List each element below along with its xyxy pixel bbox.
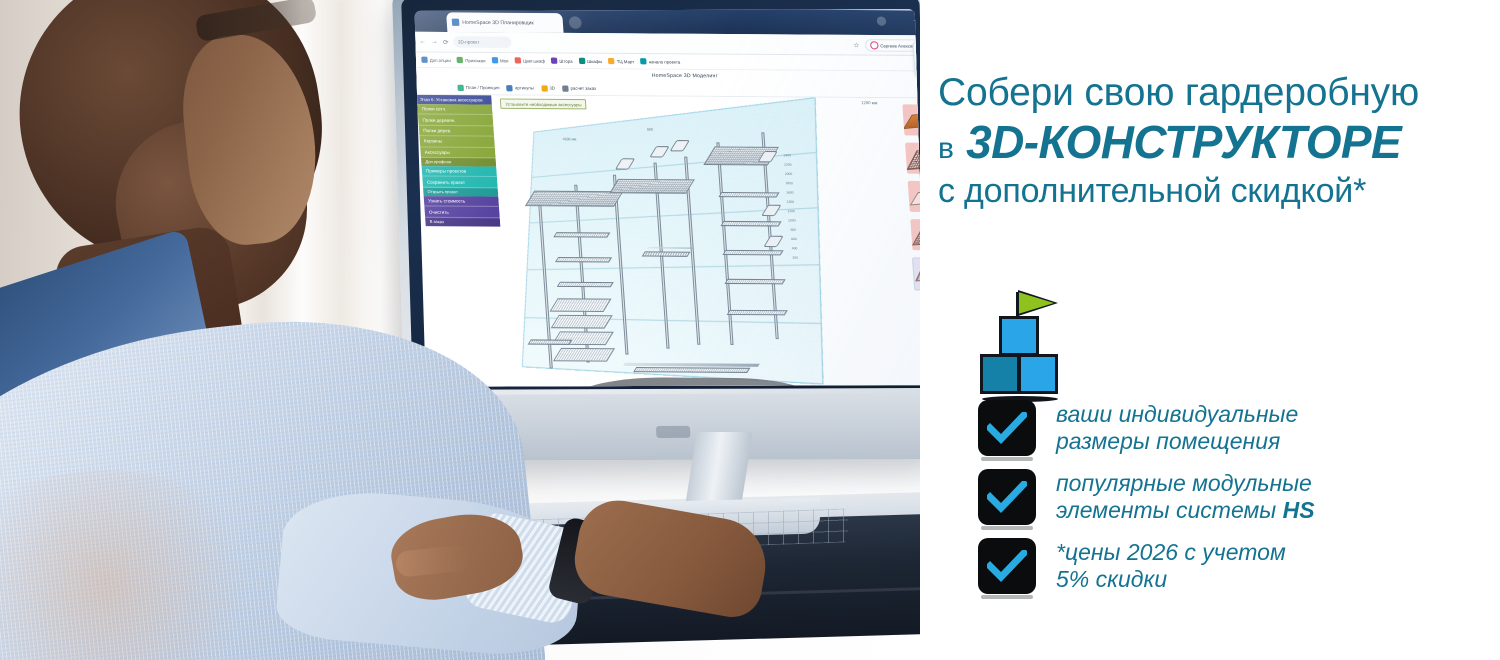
app-menu-item-order[interactable]: расчет заказ — [562, 85, 596, 91]
feature-text-1: ваши индивидуальные размеры помещения — [1056, 401, 1298, 454]
bookmark-icon — [491, 57, 498, 63]
sidebar-item-wood-shelves-2[interactable]: Полки дерев. — [419, 126, 494, 137]
bookmark-icon — [514, 57, 521, 63]
bookmark-icon — [640, 58, 647, 64]
sidebar-step-header: Этап 6: Установка аксессуаров — [417, 95, 492, 105]
headline-line-2: в 3D-КОНСТРУКТОРЕ — [938, 119, 1486, 165]
wood-shelf-thumb[interactable] — [902, 104, 920, 135]
monitor-bezel: HomeSpace 3D Планировщик — ⧉ ✕ — [401, 0, 920, 390]
mesh-basket-thumb[interactable] — [905, 143, 920, 174]
browser-addressbar: ← → ⟳ 3D-проект ☆ Сер — [415, 32, 920, 56]
account-chip[interactable]: Сергеев Алексей — [864, 39, 920, 52]
screen-content: HomeSpace 3D Планировщик — ⧉ ✕ — [415, 9, 920, 387]
headline-prefix: в — [938, 132, 954, 165]
feature-text-2: популярные модульные элементы системы HS — [1056, 470, 1315, 523]
flag-icon — [1018, 292, 1054, 314]
app-workspace: Этап 6: Установка аксессуаров Полки сетч… — [417, 95, 920, 387]
back-icon[interactable]: ← — [419, 38, 426, 45]
block-top — [999, 316, 1039, 356]
tab-title: HomeSpace 3D Планировщик — [462, 19, 534, 26]
url-text: 3D-проект — [458, 39, 480, 44]
feature-line-1: популярные модульные — [1056, 470, 1312, 496]
block-bottom-left — [980, 354, 1020, 394]
checkbox-checked-icon — [978, 538, 1036, 594]
help-badge[interactable]: HOMESPACE Помощь — [912, 41, 920, 76]
bookmark-item[interactable]: ТЦ Март — [608, 58, 634, 64]
checkbox-checked-icon — [978, 469, 1036, 525]
headline-line-1: Собери свою гардеробную — [938, 72, 1486, 113]
plan-icon — [457, 84, 464, 90]
monitor-screen[interactable]: HomeSpace 3D Планировщик — ⧉ ✕ — [415, 9, 920, 387]
bookmark-icon — [551, 58, 558, 64]
feature-text-3: *цены 2026 с учетом 5% скидки — [1056, 539, 1286, 592]
app-title: HomeSpace 3D Моделинг — [652, 73, 718, 80]
url-bar[interactable]: 3D-проект — [453, 36, 512, 48]
brand-hs-label: HS — [1283, 497, 1315, 523]
bookmark-label: Доп.опции — [430, 57, 451, 62]
forward-icon[interactable]: → — [431, 38, 438, 45]
headline-line-3: с дополнительной скидкой* — [938, 173, 1486, 210]
bookmark-item[interactable]: Шкафы — [579, 58, 603, 64]
workspace-photo: HomeSpace 3D Планировщик — ⧉ ✕ — [0, 0, 920, 660]
feature-line-2: 5% скидки — [1056, 566, 1167, 592]
account-label: Сергеев Алексей — [880, 43, 915, 48]
sidebar-item-save-project[interactable]: Сохранить проект — [422, 177, 497, 188]
block-bottom-right — [1018, 354, 1058, 394]
bookmark-item[interactable]: Доп.опции — [421, 57, 451, 63]
reload-icon[interactable]: ⟳ — [443, 38, 449, 46]
sidebar-item-get-price[interactable]: Узнать стоимость — [424, 196, 499, 207]
promo-panel: Собери свою гардеробную в 3D-КОНСТРУКТОР… — [920, 0, 1500, 660]
cube-3d-icon — [541, 85, 548, 91]
app-menu-item-3d[interactable]: 3D — [541, 85, 555, 91]
account-avatar-icon — [870, 41, 879, 49]
app-menu-label: артикулы — [515, 85, 534, 90]
sidebar-item-examples[interactable]: Примеры проектов — [422, 166, 497, 177]
sidebar-item-clear[interactable]: Очистить — [424, 207, 499, 218]
app-menu-label: План / Проекция — [466, 85, 500, 90]
bookmark-icon — [608, 58, 615, 64]
bookmark-label: Мои — [500, 58, 509, 63]
order-icon — [562, 85, 569, 91]
bookmark-item[interactable]: Штора — [551, 58, 573, 64]
canvas-hint: Установите необходимые аксессуары — [500, 99, 587, 110]
sidebar-group-purple: Узнать стоимость Очистить В заказ — [424, 196, 501, 226]
headline-block: Собери свою гардеробную в 3D-КОНСТРУКТОР… — [938, 72, 1486, 210]
mesh-tray-thumb[interactable] — [910, 219, 920, 250]
new-tab-button[interactable] — [569, 16, 582, 28]
app-menu-item-articles[interactable]: артикулы — [506, 85, 534, 91]
bookmark-label: Штора — [559, 58, 573, 63]
bookmark-icon — [579, 58, 586, 64]
dimension-shelf: 600 — [647, 127, 653, 131]
sidebar-group-green: Полки сетч. Полки деревян. Полки дерев. … — [417, 104, 496, 167]
sidebar-item-baskets[interactable]: Корзины — [419, 136, 494, 147]
bookmark-label: Шкафы — [587, 58, 602, 63]
feature-list: ваши индивидуальные размеры помещения по… — [978, 400, 1478, 607]
monitor-logo — [656, 426, 690, 438]
sidebar-item-accessories[interactable]: Аксессуары — [420, 147, 495, 158]
sidebar-item-add-to-order[interactable]: В заказ — [425, 218, 500, 227]
articles-icon — [506, 85, 513, 91]
browser-toolbar-right: ☆ Сергеев Алексей — [853, 39, 920, 52]
bookmark-label: Прихожая — [465, 57, 485, 62]
3d-canvas[interactable]: Установите необходимые аксессуары 1200 м… — [491, 95, 918, 386]
bookmark-icon — [421, 57, 428, 63]
promo-banner: HomeSpace 3D Планировщик — ⧉ ✕ — [0, 0, 1500, 660]
headline-accent: 3D-КОНСТРУКТОРЕ — [966, 116, 1401, 168]
bookmark-star-icon[interactable]: ☆ — [853, 41, 860, 49]
browser-tab[interactable]: HomeSpace 3D Планировщик — [446, 12, 564, 32]
blocks-logo — [980, 300, 1090, 400]
feature-line-1: ваши индивидуальные — [1056, 401, 1298, 427]
bookmark-item[interactable]: Прихожая — [457, 57, 486, 63]
tab-favicon — [452, 19, 460, 26]
feature-line-1: *цены 2026 с учетом — [1056, 539, 1286, 565]
dimension-top: 1200 мм — [861, 100, 877, 105]
app-menu-label: 3D — [549, 85, 555, 90]
checkbox-checked-icon — [978, 400, 1036, 456]
shoe-rack-thumb[interactable] — [912, 257, 920, 290]
feature-item-2: популярные модульные элементы системы HS — [978, 469, 1478, 525]
feature-line-2: элементы системы — [1056, 497, 1283, 523]
bookmark-item[interactable]: Мои — [491, 57, 508, 63]
bookmark-label: начало проекта — [648, 59, 680, 64]
bookmark-item[interactable]: Цвет.шкаф — [514, 57, 545, 63]
sidebar-item-wood-shelves[interactable]: Полки деревян. — [418, 115, 493, 126]
sidebar-group-teal: Примеры проектов Сохранить проект Открыт… — [422, 166, 499, 196]
sidebar-item-mesh-shelves[interactable]: Полки сетч. — [417, 104, 492, 115]
bookmark-label: Цвет.шкаф — [523, 58, 545, 63]
dimension-width: 4500 мм — [563, 137, 577, 141]
titlebar-menu-icon[interactable] — [876, 16, 886, 25]
feature-item-1: ваши индивидуальные размеры помещения — [978, 400, 1478, 456]
feature-line-2: размеры помещения — [1056, 428, 1280, 454]
app-menu-label: расчет заказ — [570, 86, 596, 91]
bookmark-icon — [457, 57, 464, 63]
bookmark-label: ТЦ Март — [617, 59, 635, 64]
glass-shelf-thumb[interactable] — [908, 181, 920, 212]
bookmark-item[interactable]: начало проекта — [640, 58, 680, 64]
feature-item-3: *цены 2026 с учетом 5% скидки — [978, 538, 1478, 594]
app-menu-item-plan[interactable]: План / Проекция — [457, 84, 499, 90]
